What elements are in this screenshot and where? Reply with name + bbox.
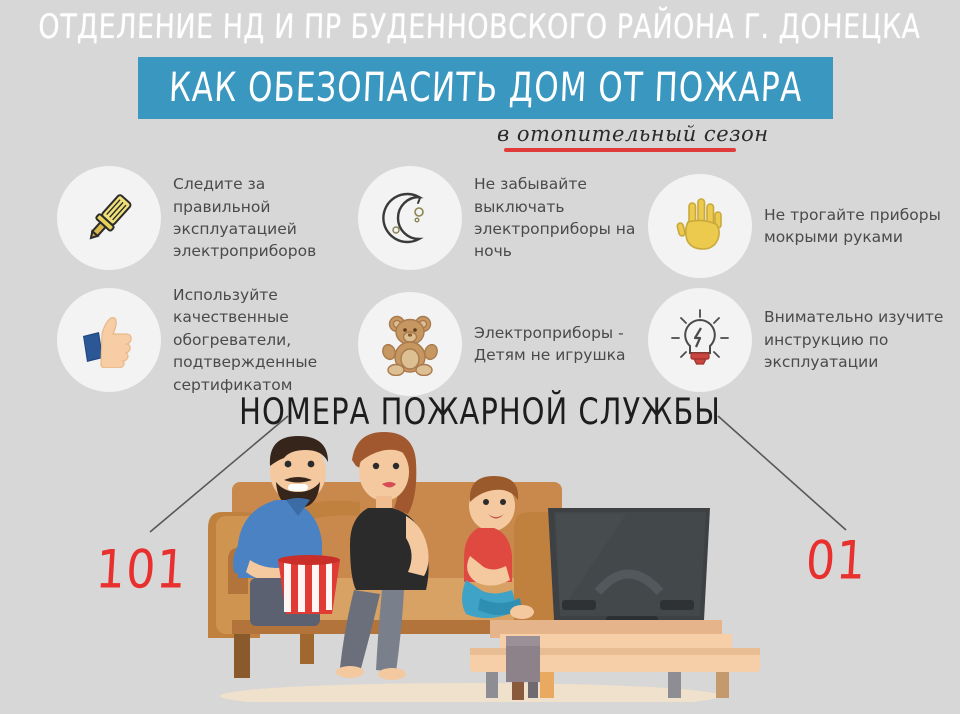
tip-item: Не трогайте приборы мокрыми руками	[648, 174, 948, 278]
tips-grid: Следите за правильной эксплуатацией элек…	[0, 160, 960, 390]
tip-item: Не забывайте выключать электроприборы на…	[358, 166, 648, 270]
teddy-bear-icon	[379, 312, 441, 376]
tip-label: Внимательно изучите инструкцию по эксплу…	[764, 306, 948, 373]
banner-title: КАК ОБЕЗОПАСИТЬ ДОМ ОТ ПОЖАРА	[168, 65, 804, 112]
tip-item: Внимательно изучите инструкцию по эксплу…	[648, 288, 948, 392]
tip-icon-circle	[57, 288, 161, 392]
tip-item: Используйте качественные обогреватели, п…	[57, 284, 367, 396]
tip-icon-circle	[358, 166, 462, 270]
title-banner: КАК ОБЕЗОПАСИТЬ ДОМ ОТ ПОЖАРА	[138, 57, 833, 119]
tip-icon-circle	[648, 288, 752, 392]
family-watching-tv-svg	[0, 420, 960, 714]
screwdriver-icon	[78, 187, 140, 249]
television	[548, 508, 710, 626]
tip-icon-circle	[648, 174, 752, 278]
tip-label: Не трогайте приборы мокрыми руками	[764, 204, 948, 249]
infographic-poster: ОТДЕЛЕНИЕ НД И ПР БУДЕННОВСКОГО РАЙОНА Г…	[0, 0, 960, 714]
subtitle-underline	[504, 148, 736, 152]
organization-header: ОТДЕЛЕНИЕ НД И ПР БУДЕННОВСКОГО РАЙОНА Г…	[0, 8, 960, 47]
family-scene-illustration	[0, 420, 960, 714]
tip-label: Следите за правильной эксплуатацией элек…	[173, 173, 357, 263]
floor-baseline	[0, 702, 960, 714]
subtitle-block: в отопительный сезон	[497, 122, 742, 152]
tip-icon-circle	[358, 292, 462, 396]
subtitle-text: в отопительный сезон	[497, 122, 742, 146]
tip-label: Электроприборы - Детям не игрушка	[474, 322, 648, 367]
open-hand-icon	[671, 195, 729, 257]
tip-label: Не забывайте выключать электроприборы на…	[474, 173, 648, 263]
lightbulb-icon	[668, 308, 732, 372]
popcorn-bucket	[278, 555, 340, 614]
crescent-moon-icon	[379, 187, 441, 249]
tip-item: Следите за правильной эксплуатацией элек…	[57, 166, 357, 270]
tip-icon-circle	[57, 166, 161, 270]
tip-label: Используйте качественные обогреватели, п…	[173, 284, 367, 396]
tip-item: Электроприборы - Детям не игрушка	[358, 292, 648, 396]
thumbs-up-icon	[77, 312, 141, 368]
